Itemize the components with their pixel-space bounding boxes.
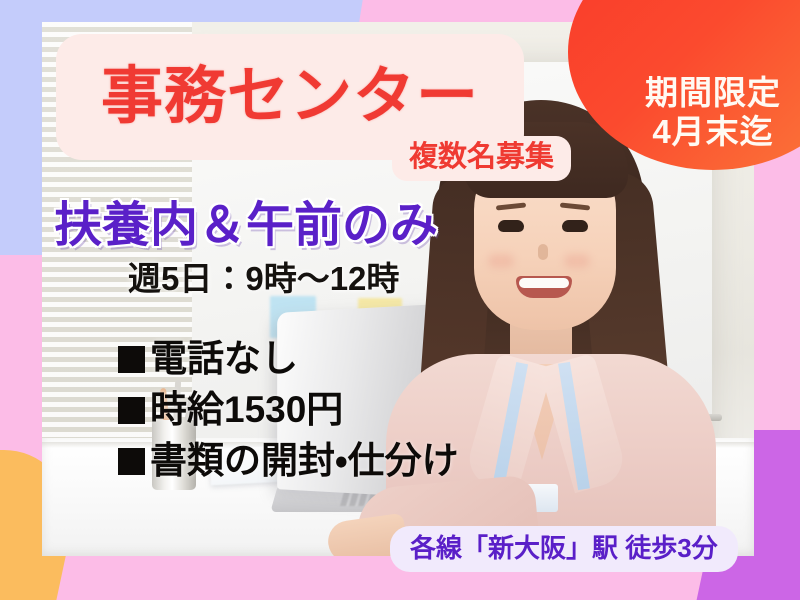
list-item: 書類の開封・仕分け [118,442,459,481]
list-item: 時給1530円 [118,391,459,430]
person-cheek-right [564,254,590,268]
list-item: 電話なし [118,340,459,379]
person-nose [538,244,548,260]
station-access-badge: 各線「新大阪」駅 徒歩3分 [390,526,738,572]
period-badge-line2: 4月末迄 [652,113,773,152]
period-badge-line1: 期間限定 [645,74,781,113]
page-title: 事務センター [101,66,479,128]
headline: 扶養内＆午前のみ [54,202,438,250]
square-bullet-icon [118,346,145,373]
feature-label: 時給1530円 [150,391,343,430]
person-eye-right [562,220,588,232]
square-bullet-icon [118,448,145,475]
person-eye-left [498,220,524,232]
square-bullet-icon [118,397,145,424]
feature-list: 電話なし 時給1530円 書類の開封・仕分け [118,340,459,493]
station-access-label: 各線「新大阪」駅 徒歩3分 [410,535,718,561]
feature-label: 書類の開封・仕分け [150,442,459,481]
person-cheek-left [488,254,514,268]
multiple-hire-label: 複数名募集 [409,143,554,172]
feature-label: 電話なし [150,340,298,379]
person-mouth [516,276,572,298]
person-teeth [519,278,569,288]
schedule-subline: 週5日：9時〜12時 [128,262,399,295]
job-ad-poster: 事務センター 期間限定 4月末迄 複数名募集 扶養内＆午前のみ 週5日：9時〜1… [0,0,800,600]
multiple-hire-badge: 複数名募集 [392,136,571,181]
